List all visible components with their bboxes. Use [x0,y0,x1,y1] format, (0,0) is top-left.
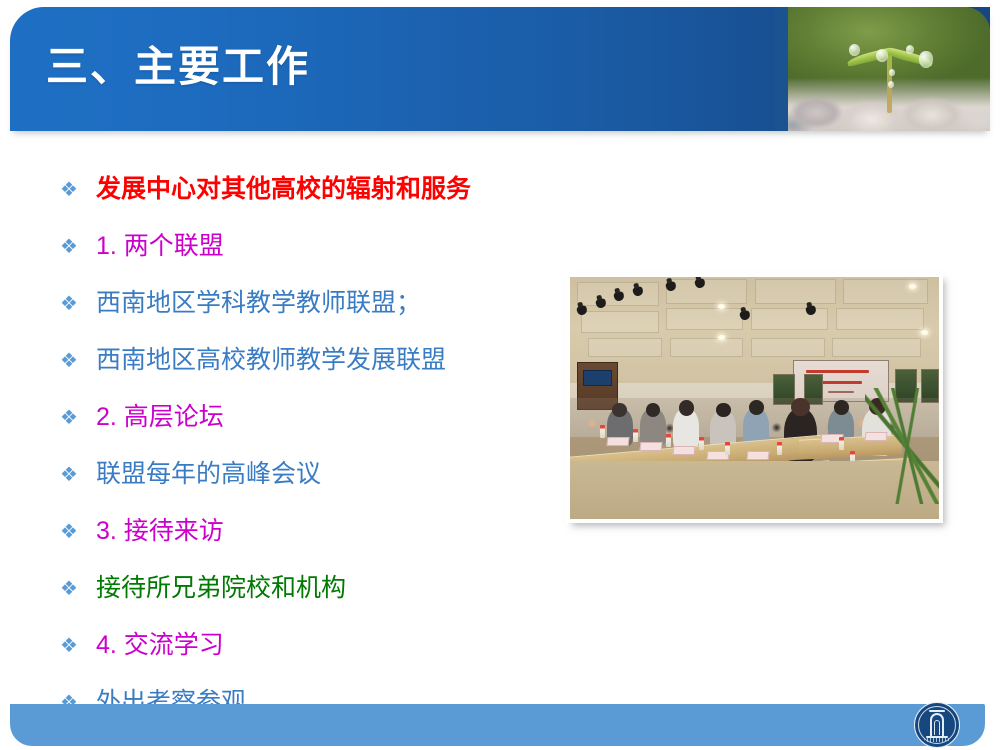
list-item-label: 3. 接待来访 [96,516,224,546]
list-item-label: 西南地区学科教学教师联盟； [96,288,421,318]
water-bottle [600,425,605,438]
attendee-head [749,400,764,415]
bullet-list: ❖ 发展中心对其他高校的辐射和服务 ❖ 1. 两个联盟 ❖ 西南地区学科教学教师… [60,160,540,730]
list-item-label: 发展中心对其他高校的辐射和服务 [96,174,471,204]
water-bottle [699,437,704,450]
header-photo-left-strip [775,7,788,131]
ceiling-coffer [755,279,836,303]
screen-text-line [828,391,854,393]
meeting-photo-frame [566,273,943,523]
list-item-label: 联盟每年的高峰会议 [96,459,321,489]
ceiling-coffer [836,308,925,330]
water-droplet [876,49,888,62]
page-title: 三、主要工作 [46,41,310,93]
water-droplet [889,69,895,76]
list-item: ❖ 发展中心对其他高校的辐射和服务 [60,160,540,217]
water-bottle [725,442,730,455]
attendee-head [834,400,849,415]
water-droplet [888,81,894,88]
header-photo [775,7,990,131]
water-droplet [849,44,860,56]
logo-text-arc [924,738,950,742]
list-item: ❖ 接待所兄弟院校和机构 [60,559,540,616]
recessed-ceiling-light [921,330,928,335]
diamond-bullet-icon: ❖ [60,293,96,313]
list-item: ❖ 西南地区学科教学教师联盟； [60,274,540,331]
conference-audience-photo [570,277,939,519]
list-item: ❖ 2. 高层论坛 [60,388,540,445]
diamond-bullet-icon: ❖ [60,578,96,598]
diamond-bullet-icon: ❖ [60,236,96,256]
diamond-bullet-icon: ❖ [60,521,96,541]
ceiling-coffer [751,338,825,357]
ceiling-coffer [843,279,928,303]
list-item-label: 西南地区高校教师教学发展联盟 [96,345,446,375]
list-item-label: 4. 交流学习 [96,630,224,660]
diamond-bullet-icon: ❖ [60,350,96,370]
ceiling-coffer [666,279,747,303]
water-bottle [777,442,782,455]
name-placard [747,451,770,460]
name-placard [606,437,629,446]
screen-text-line [806,370,870,373]
list-item-label: 1. 两个联盟 [96,231,224,261]
list-item: ❖ 西南地区高校教师教学发展联盟 [60,331,540,388]
logo-inner-arch-icon [934,720,940,735]
footer-bar [10,704,985,746]
recessed-ceiling-light [718,304,725,309]
ceiling-coffer [670,338,744,357]
list-item: ❖ 联盟每年的高峰会议 [60,445,540,502]
water-bottle [839,437,844,450]
list-item-label: 2. 高层论坛 [96,402,224,432]
list-item-label: 接待所兄弟院校和机构 [96,573,346,603]
diamond-bullet-icon: ❖ [60,635,96,655]
recessed-ceiling-light [718,335,725,340]
list-item: ❖ 4. 交流学习 [60,616,540,673]
screen-text-line [817,381,862,384]
name-placard [640,442,663,451]
attendee-head [716,403,731,418]
ceiling-coffer [832,338,921,357]
water-bottle [633,429,638,442]
diamond-bullet-icon: ❖ [60,464,96,484]
list-item: ❖ 1. 两个联盟 [60,217,540,274]
seedling-photo [788,7,990,131]
ceiling-coffer [588,338,662,357]
water-droplet [906,45,914,54]
water-bottle [666,434,671,447]
list-item: ❖ 3. 接待来访 [60,502,540,559]
ceiling-coffer [751,308,828,330]
ceiling-coffer [666,308,743,330]
university-emblem-logo [914,702,960,748]
water-droplet [919,51,933,68]
slide-canvas: 三、主要工作 ❖ 发展中心对其他高校的辐射和服务 ❖ 1. 两个联盟 [0,0,1000,750]
ceiling-coffer [581,311,658,333]
name-placard [673,446,696,455]
diamond-bullet-icon: ❖ [60,179,96,199]
attendee-head [791,398,809,416]
diamond-bullet-icon: ❖ [60,407,96,427]
potted-palm-plant [865,388,939,504]
logo-top-bar [929,710,945,712]
